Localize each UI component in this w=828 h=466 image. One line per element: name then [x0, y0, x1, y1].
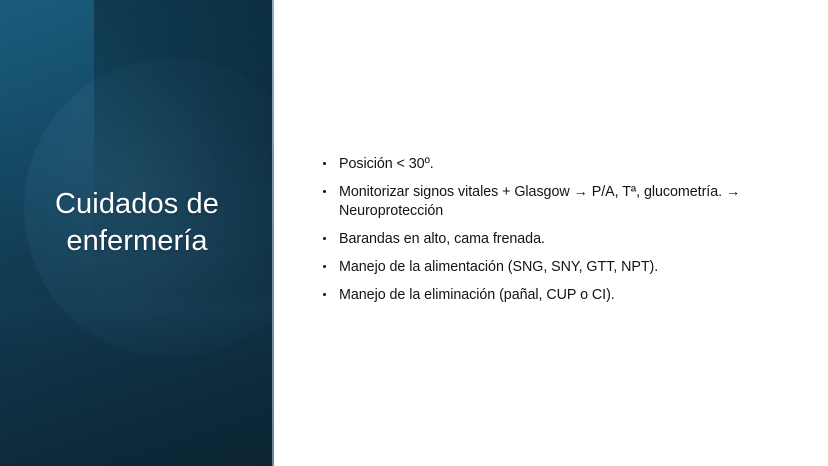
slide-body: Posición < 30º. Monitorizar signos vital…: [275, 0, 828, 466]
list-item: Manejo de la alimentación (SNG, SNY, GTT…: [320, 258, 790, 277]
panel-edge-divider: [272, 0, 274, 466]
list-item: Monitorizar signos vitales + Glasgow → P…: [320, 183, 790, 221]
slide-title: Cuidados de enfermería: [14, 186, 260, 260]
list-item: Barandas en alto, cama frenada.: [320, 230, 790, 249]
list-item: Manejo de la eliminación (pañal, CUP o C…: [320, 286, 790, 305]
slide: Cuidados de enfermería Posición < 30º. M…: [0, 0, 828, 466]
bullet-item-label: Barandas en alto, cama frenada.: [339, 230, 790, 249]
bullet-item-label: Manejo de la eliminación (pañal, CUP o C…: [339, 286, 790, 305]
bullet-list: Posición < 30º. Monitorizar signos vital…: [320, 155, 790, 305]
bullet-item-label: Monitorizar signos vitales + Glasgow → P…: [339, 183, 790, 221]
bullet-point-icon: [323, 265, 326, 268]
decorative-band-overlay: [0, 295, 274, 466]
bullet-point-icon: [323, 237, 326, 240]
bullet-item-label: Manejo de la alimentación (SNG, SNY, GTT…: [339, 258, 790, 277]
bullet-point-icon: [323, 162, 326, 165]
slide-title-line-2: enfermería: [14, 223, 260, 260]
title-panel: Cuidados de enfermería: [0, 0, 274, 466]
bullet-item-label: Posición < 30º.: [339, 155, 790, 174]
bullet-point-icon: [323, 190, 326, 193]
slide-title-line-1: Cuidados de: [14, 186, 260, 223]
list-item: Posición < 30º.: [320, 155, 790, 174]
bullet-point-icon: [323, 293, 326, 296]
